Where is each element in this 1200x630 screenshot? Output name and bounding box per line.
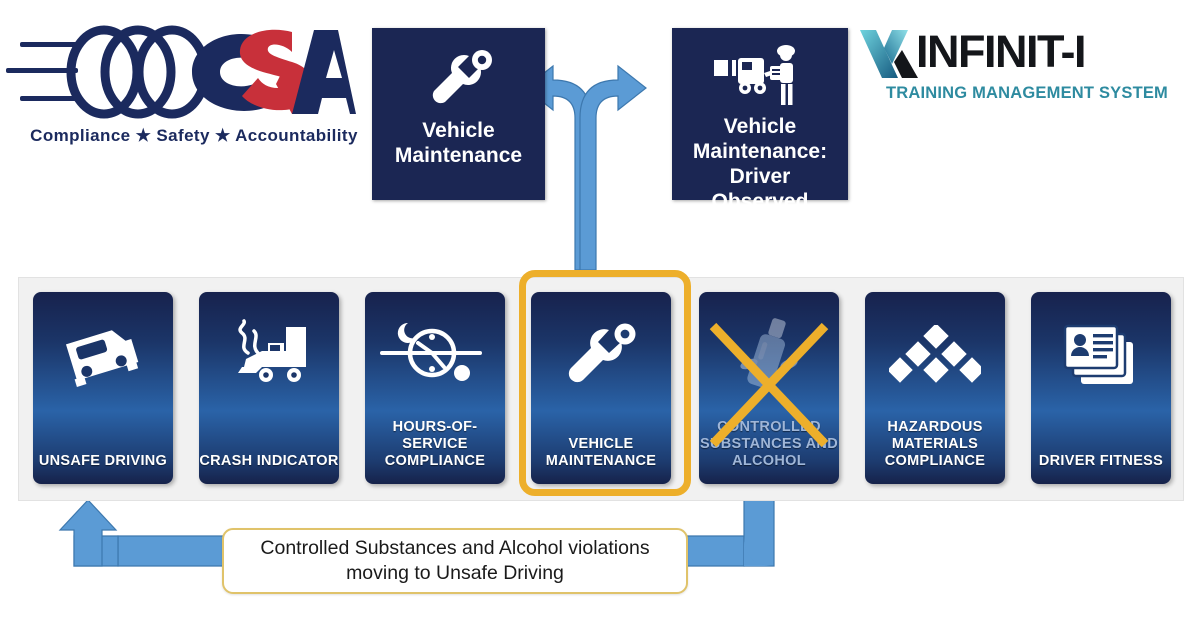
crashed-truck-icon (199, 308, 339, 404)
truck-inspector-icon (712, 44, 808, 108)
topbox-label: Vehicle Maintenance (372, 118, 545, 168)
topbox-label: Vehicle Maintenance: Driver Observed (672, 114, 848, 214)
basic-card-unsafe-driving[interactable]: UNSAFE DRIVING (33, 292, 173, 484)
callout-line-2: moving to Unsafe Driving (346, 562, 564, 584)
infographic-canvas: Compliance ★ Safety ★ Accountability INF… (0, 0, 1200, 630)
basic-card-label: HAZARDOUS MATERIALS COMPLIANCE (865, 419, 1005, 470)
csa-tagline: Compliance ★ Safety ★ Accountability (14, 126, 374, 146)
basic-card-label: HOURS-OF-SERVICE COMPLIANCE (365, 419, 505, 470)
csa-rings-icon (56, 22, 356, 122)
clock-moon-icon (365, 308, 505, 404)
wrench-bolt-icon (422, 44, 496, 112)
vehicle-maintenance-highlight-ring (519, 270, 691, 496)
basic-card-label: DRIVER FITNESS (1031, 453, 1171, 470)
basic-card-label: UNSAFE DRIVING (33, 453, 173, 470)
id-cards-icon (1031, 308, 1171, 404)
tilted-truck-icon (33, 308, 173, 404)
callout-box: Controlled Substances and Alcohol violat… (222, 528, 688, 594)
basic-card-label: CRASH INDICATOR (199, 453, 339, 470)
basic-card-hazardous-materials-compliance[interactable]: HAZARDOUS MATERIALS COMPLIANCE (865, 292, 1005, 484)
topbox-vehicle-maintenance-driver-observed[interactable]: Vehicle Maintenance: Driver Observed (672, 28, 848, 200)
callout-text: Controlled Substances and Alcohol violat… (250, 536, 659, 586)
basic-card-hours-of-service-compliance[interactable]: HOURS-OF-SERVICE COMPLIANCE (365, 292, 505, 484)
infinit-i-logo: INFINIT-I TRAINING MANAGEMENT SYSTEM (858, 24, 1194, 104)
callout-line-1: Controlled Substances and Alcohol violat… (260, 537, 649, 559)
infinit-i-subtitle: TRAINING MANAGEMENT SYSTEM (862, 84, 1192, 103)
diamonds-icon (865, 308, 1005, 404)
csa-logo: Compliance ★ Safety ★ Accountability (6, 18, 376, 168)
basic-card-driver-fitness[interactable]: DRIVER FITNESS (1031, 292, 1171, 484)
crossed-out-x-icon (699, 292, 839, 484)
infinit-i-wordmark: INFINIT-I (916, 24, 1085, 80)
topbox-vehicle-maintenance[interactable]: Vehicle Maintenance (372, 28, 545, 200)
infinit-a-mark-icon (858, 28, 920, 80)
basic-card-crash-indicator[interactable]: CRASH INDICATOR (199, 292, 339, 484)
